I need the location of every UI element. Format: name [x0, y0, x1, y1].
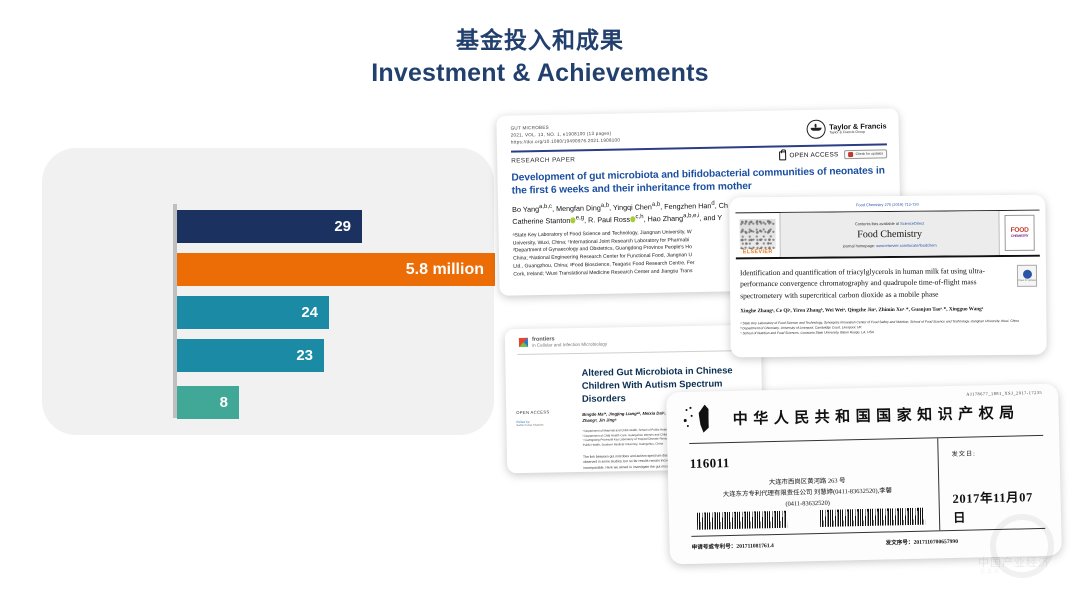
author-name-8: , Hao Zhang — [643, 214, 683, 224]
contents-available-line: Contents lists available at ScienceDirec… — [855, 220, 924, 226]
author-name-6: Catherine Stanton — [512, 216, 570, 226]
elsevier-logo: ELSEVIER — [735, 213, 780, 257]
document-patent-certificate: AJ178677_1881_XSJ_2017-17235 中华人民共和国国家知识… — [666, 384, 1062, 565]
patent-serial-number: 2017110700657990 — [913, 539, 958, 546]
patent-app-number: 201711081761.4 — [736, 543, 774, 550]
publisher-group: Taylor & Francis Group — [829, 130, 886, 135]
cover-title-line2: CHEMISTRY — [1011, 234, 1029, 238]
food-chem-affiliations: ᵃ State Key Laboratory of Food Science a… — [740, 318, 1036, 336]
homepage-link[interactable]: www.elsevier.com/locate/foodchem — [876, 242, 937, 248]
patent-postal-code: 116011 — [690, 451, 924, 472]
slide-root: 基金投入和成果 Investment & Achievements Projec… — [0, 0, 1080, 589]
food-chem-paper-title: Identification and quantification of tri… — [740, 265, 1036, 301]
check-updates-label: Check for updates — [856, 152, 884, 157]
food-chem-body: Check for updates Identification and qua… — [730, 257, 1047, 337]
page-title-chinese: 基金投入和成果 — [0, 26, 1080, 55]
author-name-4: , Fengzhen Han — [660, 201, 711, 211]
crossmark-dot-icon — [1022, 270, 1031, 279]
author-name-3: , Yingqi Chen — [609, 203, 652, 213]
open-access-label: OPEN ACCESS — [789, 151, 838, 159]
gut-meta-row: RESEARCH PAPER OPEN ACCESS Check for upd… — [511, 149, 887, 165]
patent-issue-date: 2017年11月07日 — [952, 486, 1045, 526]
patent-serial-number-field: 发文序号：2017110700657990 — [885, 535, 1045, 547]
patent-application-number-field: 申请号或专利号：201711081761.4 — [692, 538, 886, 550]
homepage-prefix: journal homepage: — [843, 243, 876, 248]
food-chem-paper-authors: Xinghe Zhangᵃ, Ce Qiᵃ, Yiren Zhangᵇ, Wei… — [740, 305, 1036, 315]
patent-office-name: 中华人民共和国国家知识产权局 — [732, 401, 1019, 429]
patent-address: 大连市西岗区黄河路 263 号 大连东方专利代理有限责任公司 刘慧婷(0411-… — [690, 474, 925, 513]
bar-chart: Projects 29 Investment 5.8 million SCI p… — [42, 148, 494, 435]
bar-patent: 8 — [177, 386, 239, 419]
author-sup-3: a,b — [652, 202, 660, 208]
food-chem-masthead: ELSEVIER Contents lists available at Sci… — [735, 210, 1039, 260]
bar-value-patent: 8 — [220, 394, 239, 411]
bar-investment: 5.8 million — [177, 253, 495, 286]
food-chem-running-head: Food Chemistry 275 (2019) 712-720 — [729, 195, 1045, 209]
emblem-spark — [685, 409, 687, 411]
frontiers-section-name: in Cellular and Infection Microbiology — [532, 342, 607, 349]
author-sup-5: e,g — [576, 215, 584, 221]
cover-box: FOOD CHEMISTRY — [1004, 215, 1034, 251]
author-name-7: , R. Paul Ross — [584, 215, 630, 225]
contents-prefix: Contents lists available at — [855, 220, 900, 225]
author-name-1: Bo Yang — [512, 205, 539, 215]
barcode-icon-right — [820, 508, 925, 527]
open-access-badge: OPEN ACCESS — [779, 150, 838, 160]
emblem-spark — [691, 415, 693, 417]
frontiers-sidebar: OPEN ACCESS Edited by: Sudhir Kumar Chau… — [515, 367, 575, 473]
emblem-pen-shape — [698, 405, 709, 433]
frontiers-logo-icon — [519, 338, 528, 347]
bar-value-projects: 29 — [334, 218, 362, 235]
gut-paper-title: Development of gut microbiota and bifido… — [511, 164, 887, 198]
patent-main: 116011 大连市西岗区黄河路 263 号 大连东方专利代理有限责任公司 刘慧… — [689, 436, 1045, 536]
elsevier-wordmark: ELSEVIER — [743, 249, 773, 255]
sciencedirect-link[interactable]: ScienceDirect — [900, 220, 924, 225]
bar-projects: 29 — [177, 210, 362, 243]
author-name-9: , and Y — [699, 213, 722, 222]
bar-chinese-paper: 23 — [177, 339, 324, 372]
page-title-english: Investment & Achievements — [0, 57, 1080, 90]
emblem-spark — [689, 407, 691, 409]
patent-app-label: 申请号或专利号： — [692, 544, 737, 551]
food-chem-cover-thumb: FOOD CHEMISTRY — [998, 211, 1039, 255]
bar-value-sci-paper: 24 — [301, 304, 329, 321]
food-chem-masthead-center: Contents lists available at ScienceDirec… — [780, 211, 998, 257]
food-chem-journal-name: Food Chemistry — [857, 228, 922, 240]
emblem-spark — [684, 419, 687, 422]
frontiers-open-access-label: OPEN ACCESS — [516, 409, 574, 415]
author-sup-1: a,b,c — [539, 204, 552, 210]
journal-homepage-line: journal homepage: www.elsevier.com/locat… — [843, 242, 937, 248]
crossmark-icon — [849, 152, 854, 157]
taylor-francis-mark-icon — [806, 120, 825, 139]
chart-card: Projects 29 Investment 5.8 million SCI p… — [42, 148, 494, 435]
elsevier-tree-icon — [739, 219, 775, 249]
patent-date-panel: 发文日: 2017年11月07日 — [938, 436, 1045, 530]
crossmark-label: Check for updates — [1018, 280, 1036, 282]
author-sup-2: a,b — [601, 203, 609, 209]
bar-value-investment: 5.8 million — [406, 261, 495, 279]
author-name-5: , Ch — [715, 201, 728, 210]
frontiers-editor-name: Sudhir Kumar Chauhan — [516, 423, 574, 427]
taylor-francis-logo: Taylor & Francis Taylor & Francis Group — [806, 118, 887, 139]
barcode-icon-left — [697, 511, 787, 530]
article-type-label: RESEARCH PAPER — [511, 156, 575, 164]
watermark-subtext: 信息网 — [980, 568, 1001, 575]
emblem-spark — [687, 425, 689, 427]
document-food-chemistry-paper: Food Chemistry 275 (2019) 712-720 ELSEVI… — [729, 195, 1046, 358]
crossmark-badge: Check for updates — [1017, 265, 1037, 287]
author-name-2: , Mengfan Ding — [552, 203, 601, 213]
bar-value-chinese-paper: 23 — [296, 347, 324, 364]
bar-sci-paper: 24 — [177, 296, 329, 329]
check-for-updates-badge: Check for updates — [844, 149, 887, 159]
patent-address-panel: 116011 大连市西岗区黄河路 263 号 大连东方专利代理有限责任公司 刘慧… — [689, 438, 940, 536]
slide-title-block: 基金投入和成果 Investment & Achievements — [0, 26, 1080, 89]
author-sup-7: a,b,e,i — [683, 213, 699, 219]
frontiers-brand-row: frontiers in Cellular and Infection Micr… — [505, 325, 761, 349]
patent-issue-label: 发文日: — [951, 447, 1043, 458]
cnipa-emblem-icon — [682, 403, 717, 434]
patent-serial-label: 发文序号： — [886, 540, 914, 547]
lock-icon — [779, 151, 786, 160]
